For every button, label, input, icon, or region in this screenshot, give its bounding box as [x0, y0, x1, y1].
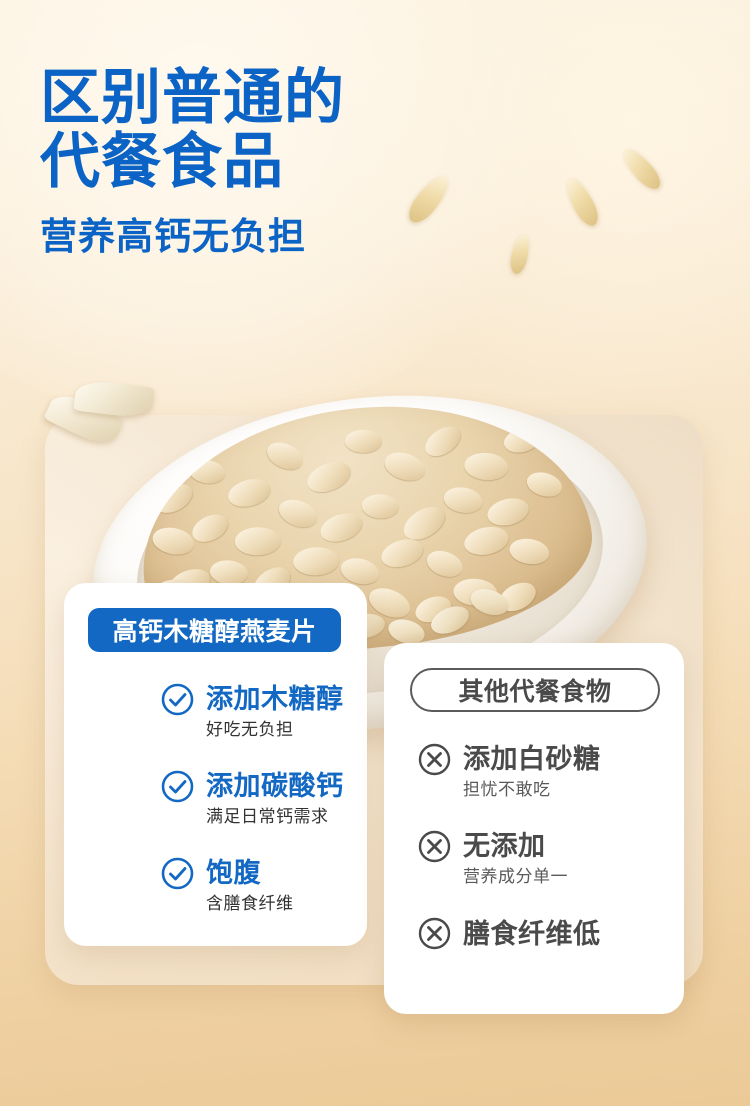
feature-title: 膳食纤维低: [463, 918, 601, 950]
feature-desc: 含膳食纤维: [206, 893, 294, 915]
check-circle-icon: [161, 857, 194, 890]
feature-item: 膳食纤维低: [418, 917, 601, 950]
feature-desc: 营养成分单一: [463, 866, 568, 888]
x-circle-icon: [418, 743, 451, 776]
feature-item: 无添加 营养成分单一: [418, 830, 568, 888]
competitor-card: 其他代餐食物 添加白砂糖 担忧不敢吃: [384, 643, 684, 1014]
page-title-line1: 区别普通的: [40, 66, 345, 130]
headline-block: 区别普通的 代餐食品 营养高钙无负担: [40, 66, 345, 258]
feature-title: 添加木糖醇: [206, 683, 344, 715]
oat-grain-icon: [403, 170, 455, 228]
oat-grain-icon: [561, 174, 603, 229]
feature-title: 添加白砂糖: [463, 743, 601, 775]
feature-title: 无添加: [463, 830, 568, 862]
check-circle-icon: [161, 683, 194, 716]
page-subtitle: 营养高钙无负担: [40, 216, 345, 258]
oat-grain-icon: [508, 233, 532, 275]
product-card-badge: 高钙木糖醇燕麦片: [88, 608, 341, 652]
product-card: 高钙木糖醇燕麦片 添加木糖醇 好吃无负担: [64, 583, 367, 946]
x-circle-icon: [418, 830, 451, 863]
check-circle-icon: [161, 770, 194, 803]
competitor-card-badge: 其他代餐食物: [410, 668, 660, 712]
feature-desc: 担忧不敢吃: [463, 779, 601, 801]
feature-item: 添加碳酸钙 满足日常钙需求: [161, 770, 344, 828]
feature-item: 添加木糖醇 好吃无负担: [161, 683, 344, 741]
feature-desc: 满足日常钙需求: [206, 806, 344, 828]
oat-grain-icon: [618, 144, 666, 194]
promo-page: 区别普通的 代餐食品 营养高钙无负担: [0, 0, 750, 1106]
page-title-line2: 代餐食品: [40, 130, 345, 194]
feature-title: 添加碳酸钙: [206, 770, 344, 802]
feature-title: 饱腹: [206, 857, 294, 889]
x-circle-icon: [418, 917, 451, 950]
feature-desc: 好吃无负担: [206, 719, 344, 741]
feature-item: 添加白砂糖 担忧不敢吃: [418, 743, 601, 801]
feature-item: 饱腹 含膳食纤维: [161, 857, 294, 915]
